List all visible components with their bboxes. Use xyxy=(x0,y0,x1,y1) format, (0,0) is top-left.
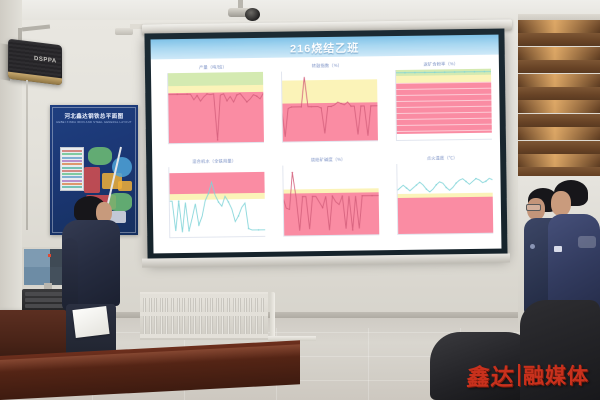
chart-series-svg xyxy=(281,70,378,142)
radiator-fin xyxy=(177,294,180,338)
chart-panel: 返矿含粉率（%） xyxy=(389,61,494,150)
chart-panel-title: 产量（吨/班） xyxy=(161,64,265,71)
chart-series-svg xyxy=(396,163,493,235)
radiator-fin xyxy=(227,294,230,338)
blind-light-glow xyxy=(518,127,600,140)
radiator-fin xyxy=(261,294,264,338)
chart-panel-title: 烧结矿碱度（%） xyxy=(276,156,380,163)
radiator-fin xyxy=(249,294,252,338)
chart-x-axis xyxy=(397,233,493,235)
watermark-divider xyxy=(518,364,520,386)
poster-legend-table xyxy=(60,147,84,191)
radiator-fin xyxy=(171,294,174,338)
radiator-fin xyxy=(193,294,196,338)
chart-series-svg xyxy=(282,164,379,236)
blind-light-glow xyxy=(518,74,600,87)
presenter-notebook xyxy=(72,306,109,338)
chart-series-svg xyxy=(395,69,492,141)
radiator-bar xyxy=(140,312,268,316)
radiator-fin xyxy=(205,294,208,338)
chart-panel: 转鼓指数（%） xyxy=(275,62,380,151)
chart-panel-title: 返矿含粉率（%） xyxy=(389,61,493,68)
radiator-fin xyxy=(149,294,152,338)
poster-map-zone xyxy=(84,167,100,193)
poster-map-zone xyxy=(88,147,112,165)
camera-dome-icon xyxy=(245,8,260,21)
poster-legend-row xyxy=(62,183,82,185)
chart-plot-area xyxy=(168,166,265,238)
radiator-fin xyxy=(165,294,168,338)
attendee-front-shoulder-patch xyxy=(578,236,596,248)
wall-cable xyxy=(26,80,28,230)
poster-legend-row xyxy=(62,167,82,169)
chart-panel: 烧结矿碱度（%） xyxy=(276,156,381,245)
chart-plot-area xyxy=(395,69,492,141)
radiator-fin xyxy=(143,294,146,338)
chart-series-svg xyxy=(168,166,265,238)
radiator-fin xyxy=(199,294,202,338)
poster-legend-row xyxy=(62,157,82,159)
chart-plot-area xyxy=(281,70,378,142)
poster-legend-row xyxy=(62,163,82,165)
chart-panel-title: 混合机水（全铁用量） xyxy=(162,158,266,165)
blind-light-glow xyxy=(518,47,600,60)
poster-subtitle: HEBEI XINDA IRON AND STEEL GENERAL LAYOU… xyxy=(50,120,138,124)
chart-plot-area xyxy=(282,164,379,236)
radiator-fin xyxy=(154,294,157,338)
radiator-fin xyxy=(160,294,163,338)
chart-panel: 点火温度（℃） xyxy=(390,155,495,244)
chart-panel: 产量（吨/班） xyxy=(161,64,266,153)
cctv-feed-cell[interactable] xyxy=(24,249,51,268)
recording-indicator-icon xyxy=(48,254,51,257)
glasses-icon xyxy=(526,204,541,211)
radiator-fin xyxy=(244,294,247,338)
chart-panel-title: 点火温度（℃） xyxy=(390,155,494,162)
radiator-fin xyxy=(216,294,219,338)
chart-x-axis xyxy=(396,139,492,141)
wall-speaker: DSPPA xyxy=(8,39,62,86)
blind-light-glow xyxy=(518,20,600,33)
chart-panel: 混合机水（全铁用量） xyxy=(162,158,267,247)
meeting-room-screenshot: DSPPA 河北鑫达钢铁总平面图 HEBEI XINDA IRON AND ST… xyxy=(0,0,600,400)
chart-x-axis xyxy=(168,142,264,144)
watermark-suffix: 融媒体 xyxy=(523,360,589,390)
chart-panel-title: 转鼓指数（%） xyxy=(275,62,379,69)
radiator xyxy=(140,292,268,340)
attendee-front-name-tag xyxy=(554,246,562,252)
radiator-fin xyxy=(255,294,258,338)
blind-light-glow xyxy=(518,154,600,167)
poster-legend-row xyxy=(62,160,82,162)
chart-plot-area xyxy=(396,163,493,235)
poster-map-zone xyxy=(118,181,132,191)
radiator-fin xyxy=(233,294,236,338)
radiator-bar xyxy=(140,334,268,338)
watermark-brand: 鑫达 xyxy=(466,358,517,392)
poster-legend-row xyxy=(62,173,82,175)
radiator-fin xyxy=(182,294,185,338)
floor-tile-seam xyxy=(368,328,369,400)
presenter-arm xyxy=(62,238,78,312)
attendee-rear-badge xyxy=(530,244,535,249)
chart-x-axis xyxy=(169,236,265,238)
blind-light-glow xyxy=(518,100,600,113)
radiator-fin xyxy=(188,294,191,338)
chart-x-axis xyxy=(282,140,378,142)
poster-legend-row xyxy=(62,186,82,188)
chart-x-axis xyxy=(283,234,379,236)
poster-title: 河北鑫达钢铁总平面图 xyxy=(50,112,138,120)
chart-plot-area xyxy=(167,72,264,144)
radiator-fin xyxy=(210,294,213,338)
poster-legend-row xyxy=(62,176,82,178)
radiator-bar xyxy=(140,294,268,298)
watermark: 鑫达 融媒体 xyxy=(462,358,594,392)
poster-legend-row xyxy=(62,150,82,152)
poster-legend-row xyxy=(62,180,82,182)
poster-legend-row xyxy=(62,170,82,172)
radiator-fin xyxy=(221,294,224,338)
attendee-front-face xyxy=(551,191,571,216)
person-presenter-left xyxy=(60,196,122,360)
presentation-slide[interactable]: 216烧结乙班 产量（吨/班）转鼓指数（%）返矿含粉率（%）混合机水（全铁用量）… xyxy=(151,35,502,254)
chart-series-svg xyxy=(167,72,264,144)
window-blinds[interactable] xyxy=(518,20,600,180)
ceiling-vent xyxy=(115,28,133,35)
radiator-pipe-vertical xyxy=(270,292,275,340)
radiator-fin xyxy=(238,294,241,338)
poster-legend-row xyxy=(62,153,82,155)
